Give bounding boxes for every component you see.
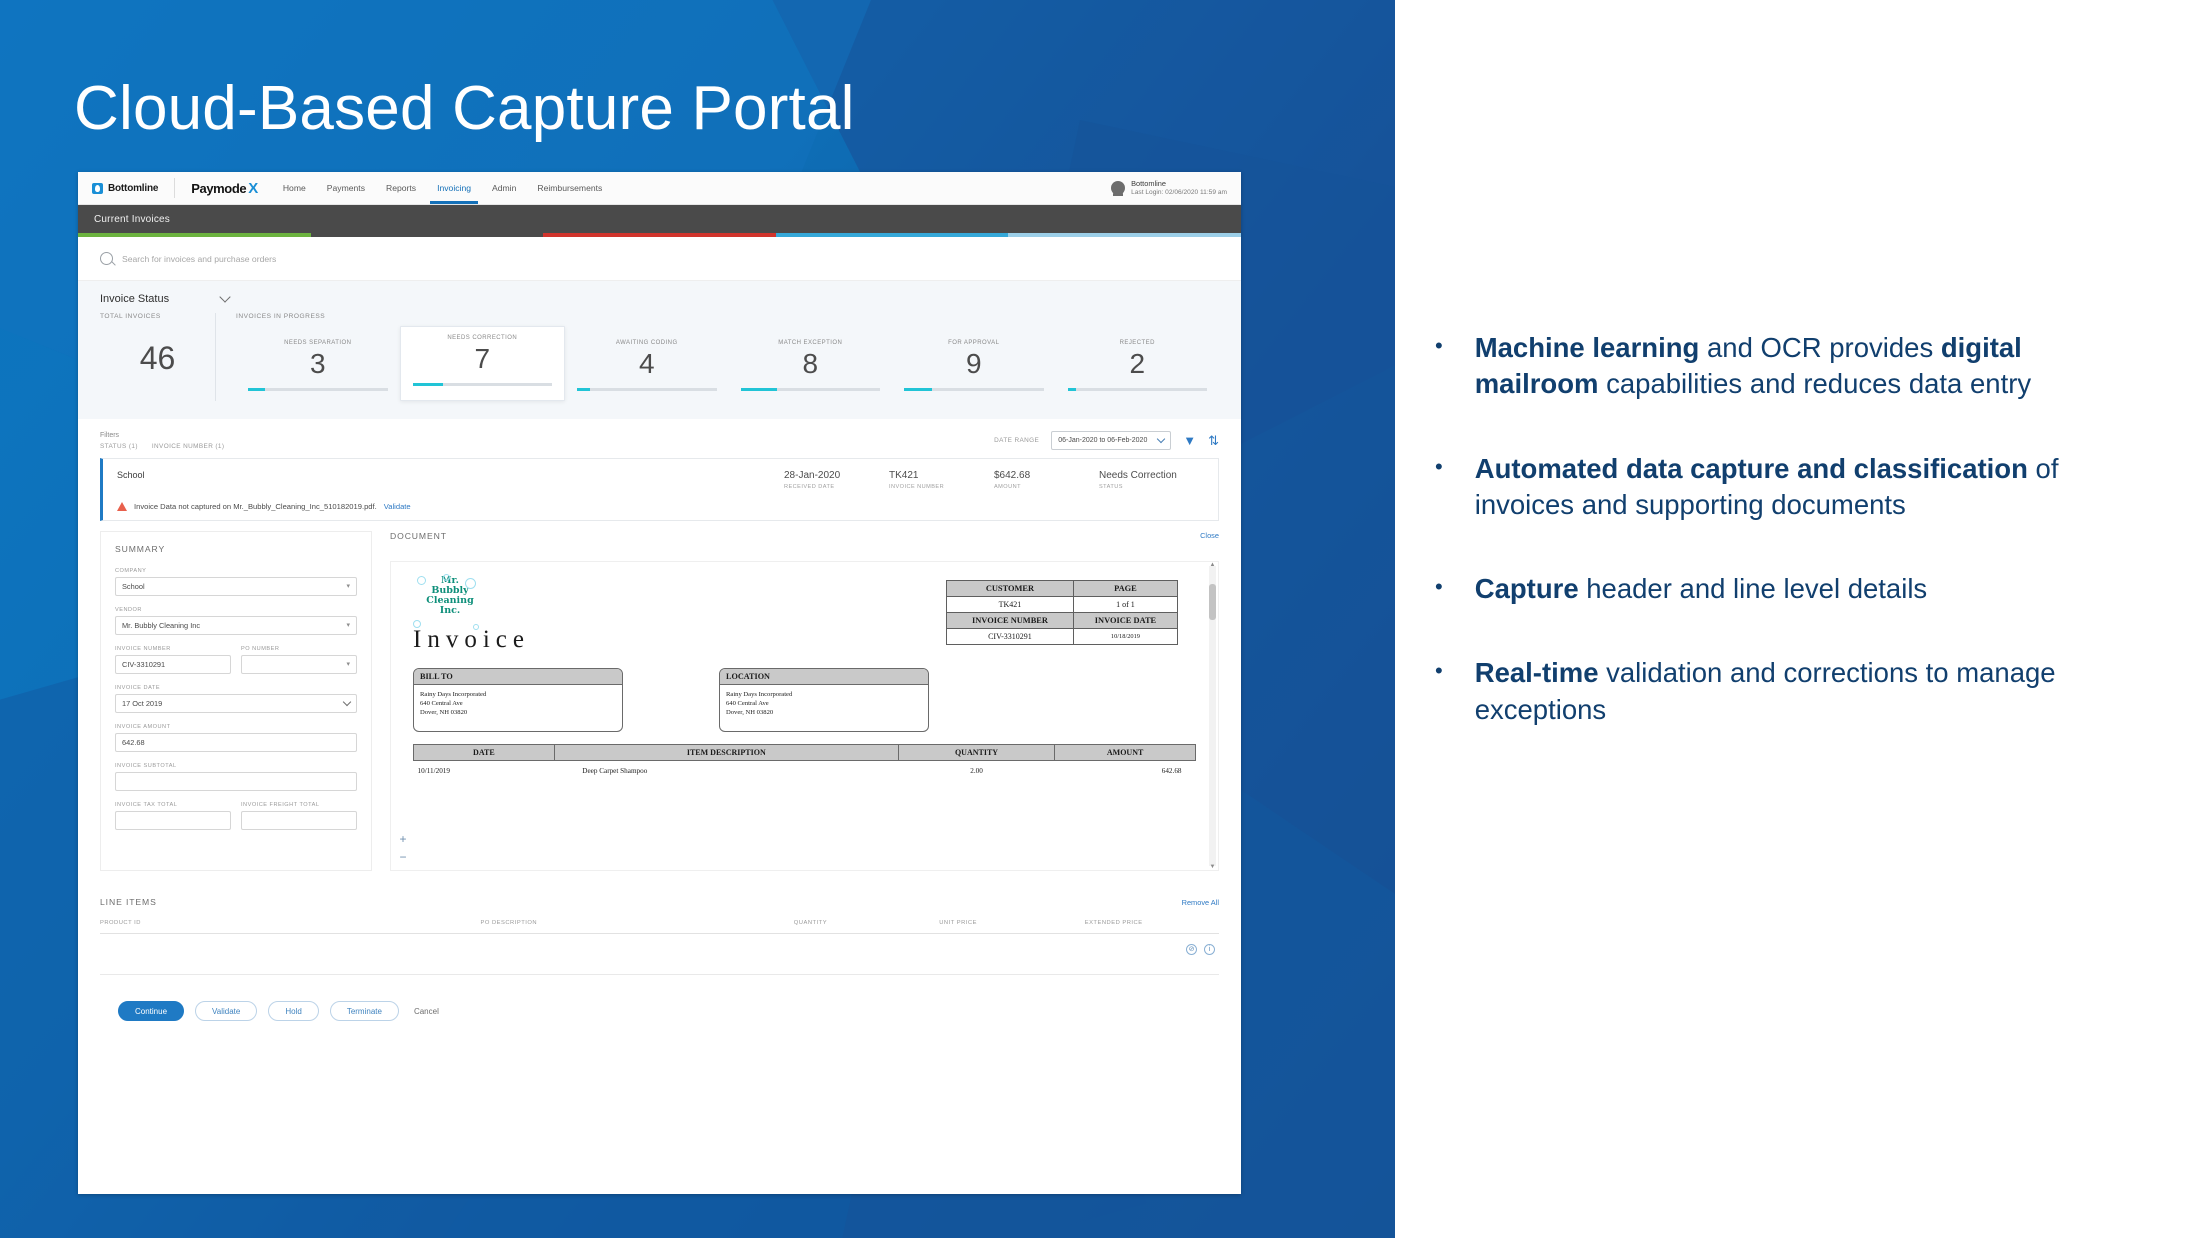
col-product-id: PRODUCT ID (100, 920, 480, 926)
date-range-select[interactable]: 06-Jan-2020 to 06-Feb-2020 (1051, 431, 1171, 450)
invoice-status: Needs Correction STATUS (1099, 470, 1204, 490)
status-card-label: FOR APPROVAL (896, 340, 1052, 346)
invoice-warning-text: Invoice Data not captured on Mr._Bubbly_… (134, 502, 377, 511)
field-invoice-number: INVOICE NUMBER CIV-3310291 (115, 646, 231, 674)
invoice-subtotal-input[interactable] (115, 772, 357, 791)
field-invoice-date: INVOICE DATE 17 Oct 2019 (115, 685, 357, 713)
date-range-value: 06-Jan-2020 to 06-Feb-2020 (1058, 437, 1147, 444)
status-card-value: 9 (896, 350, 1052, 378)
caret-icon: ▾ (346, 661, 350, 668)
cell-date: 10/11/2019 (414, 760, 555, 781)
user-account-menu[interactable]: Bottomline Last Login: 02/06/2020 11:59 … (1111, 179, 1227, 197)
search-bar[interactable]: Search for invoices and purchase orders (78, 237, 1241, 281)
status-card-needs-separation[interactable]: NEEDS SEPARATION 3 (236, 332, 400, 401)
status-card-label: NEEDS SEPARATION (240, 340, 396, 346)
nav-item-payments[interactable]: Payments (326, 174, 366, 203)
status-card-value: 7 (405, 345, 561, 373)
paymode-x-icon: X (248, 180, 258, 197)
col-date: DATE (414, 744, 555, 760)
invoice-field-value: 28-Jan-2020 (784, 470, 889, 481)
invoice-date-input[interactable]: 17 Oct 2019 (115, 694, 357, 713)
meta-customer-header: CUSTOMER (947, 581, 1074, 597)
nav-item-home[interactable]: Home (282, 174, 307, 203)
col-amount: AMOUNT (1055, 744, 1196, 760)
nav-item-invoicing[interactable]: Invoicing (436, 174, 472, 203)
cell-quantity: 2.00 (898, 760, 1054, 781)
summary-title: SUMMARY (115, 544, 357, 554)
nav-item-reimbursements[interactable]: Reimbursements (536, 174, 603, 203)
detail-work-area: SUMMARY COMPANY School ▾ VENDOR Mr. Bubb… (78, 521, 1241, 871)
invoices-in-progress-label: INVOICES IN PROGRESS (236, 313, 1219, 320)
page-title-bar: Current Invoices (78, 205, 1241, 233)
status-card-label: MATCH EXCEPTION (733, 340, 889, 346)
field-company: COMPANY School ▾ (115, 568, 357, 596)
chevron-down-icon (1157, 435, 1165, 443)
document-scrollbar[interactable]: ▲ ▼ (1209, 566, 1216, 866)
field-value: School (122, 582, 145, 591)
field-invoice-freight-total: INVOICE FREIGHT TOTAL (241, 802, 357, 830)
meta-invoice-number-value: CIV-3310291 (947, 629, 1074, 645)
invoice-field-value: Needs Correction (1099, 470, 1204, 481)
invoice-row[interactable]: School 28-Jan-2020 RECEIVED DATE TK421 I… (100, 458, 1219, 521)
field-invoice-subtotal: INVOICE SUBTOTAL (115, 763, 357, 791)
field-invoice-amount: INVOICE AMOUNT 642.68 (115, 724, 357, 752)
user-last-login: Last Login: 02/06/2020 11:59 am (1131, 189, 1227, 198)
status-card-list: NEEDS SEPARATION 3 NEEDS CORRECTION 7 AW… (236, 332, 1219, 401)
status-card-progress (1068, 388, 1208, 391)
filters-bar: Filters STATUS (1) INVOICE NUMBER (1) DA… (78, 419, 1241, 458)
status-card-progress (577, 388, 717, 391)
status-card-label: NEEDS CORRECTION (405, 335, 561, 341)
status-card-progress (904, 388, 1044, 391)
paymode-logo[interactable]: Paymode X (191, 180, 258, 197)
document-title: DOCUMENT (390, 531, 447, 541)
col-quantity: QUANTITY (794, 920, 939, 926)
meta-page-header: PAGE (1073, 581, 1177, 597)
zoom-in-icon[interactable]: + (397, 834, 409, 846)
field-label: VENDOR (115, 607, 357, 613)
meta-invoice-number-header: INVOICE NUMBER (947, 613, 1074, 629)
bullet-text-2: Automated data capture and classificatio… (1475, 451, 2135, 524)
close-document-link[interactable]: Close (1200, 531, 1219, 540)
document-zoom-controls: + − (397, 834, 409, 864)
cell-description: Deep Carpet Shampoo (554, 760, 898, 781)
status-card-progress (413, 383, 553, 386)
invoice-amount: $642.68 AMOUNT (994, 470, 1099, 490)
validate-link[interactable]: Validate (384, 502, 411, 511)
col-item-description: ITEM DESCRIPTION (554, 744, 898, 760)
invoice-tax-total-input[interactable] (115, 811, 231, 830)
chevron-down-icon (343, 698, 351, 706)
document-items-table: DATE ITEM DESCRIPTION QUANTITY AMOUNT 10… (413, 744, 1196, 781)
sort-icon[interactable]: ⇅ (1208, 434, 1219, 447)
location-line-1: Rainy Days Incorporated (726, 691, 922, 700)
bullet-item-3: • Capture header and line level details (1435, 571, 2135, 607)
status-card-for-approval[interactable]: FOR APPROVAL 9 (892, 332, 1056, 401)
bullet-dot-icon: • (1435, 571, 1443, 607)
col-unit-price: UNIT PRICE (939, 920, 1084, 926)
document-preview[interactable]: ▲ ▼ Mr. Bubbly Cleaning Inc. (390, 561, 1219, 871)
invoice-status-section: Invoice Status TOTAL INVOICES 46 INVOICE… (78, 281, 1241, 419)
field-label: INVOICE AMOUNT (115, 724, 357, 730)
accent-green (78, 233, 311, 237)
bill-to-header: BILL TO (414, 669, 622, 685)
field-invoice-tax-total: INVOICE TAX TOTAL (115, 802, 231, 830)
bill-to-line-2: 640 Central Ave (420, 700, 616, 709)
line-items-empty-row[interactable]: ⊘ i (100, 934, 1219, 974)
zoom-out-icon[interactable]: − (397, 852, 409, 864)
meta-invoice-date-header: INVOICE DATE (1073, 613, 1177, 629)
continue-button[interactable]: Continue (118, 1001, 184, 1021)
cancel-button[interactable]: Cancel (410, 1001, 443, 1021)
invoice-freight-total-input[interactable] (241, 811, 357, 830)
invoice-amount-input[interactable]: 642.68 (115, 733, 357, 752)
bullet-item-1: • Machine learning and OCR provides digi… (1435, 330, 2135, 403)
invoice-field-label: AMOUNT (994, 484, 1099, 490)
bill-to-line-1: Rainy Days Incorporated (420, 691, 616, 700)
caret-icon: ▾ (346, 583, 350, 590)
nav-item-reports[interactable]: Reports (385, 174, 417, 203)
accent-red (543, 233, 776, 237)
cell-amount: 642.68 (1055, 760, 1196, 781)
primary-nav-links: Home Payments Reports Invoicing Admin Re… (282, 174, 603, 203)
action-button-bar: Continue Validate Hold Terminate Cancel (78, 975, 1241, 1039)
bullet-item-4: • Real-time validation and corrections t… (1435, 655, 2135, 728)
invoice-field-value: TK421 (889, 470, 994, 481)
filter-chip-invoice-number[interactable]: INVOICE NUMBER (1) (152, 443, 225, 450)
filter-icon[interactable]: ▼ (1183, 434, 1196, 447)
bottomline-logo-label: Bottomline (108, 183, 158, 194)
col-extended-price: EXTENDED PRICE (1085, 920, 1219, 926)
field-label: INVOICE FREIGHT TOTAL (241, 802, 357, 808)
company-select[interactable]: School ▾ (115, 577, 357, 596)
nav-divider (174, 178, 175, 198)
bottomline-mark-icon (92, 183, 103, 194)
status-card-label: AWAITING CODING (569, 340, 725, 346)
po-number-select[interactable]: ▾ (241, 655, 357, 674)
bullet-dot-icon: • (1435, 330, 1443, 403)
total-invoices-card[interactable]: TOTAL INVOICES 46 (100, 313, 215, 401)
vendor-logo: Mr. Bubbly Cleaning Inc. (413, 576, 493, 616)
document-panel: DOCUMENT Close ▲ ▼ Mr. Bubbl (390, 531, 1219, 871)
invoice-field-label: STATUS (1099, 484, 1204, 490)
accent-color-strip (78, 233, 1241, 237)
field-value: Mr. Bubbly Cleaning Inc (122, 621, 200, 630)
scroll-down-icon[interactable]: ▼ (1209, 864, 1216, 870)
validate-button[interactable]: Validate (195, 1001, 257, 1021)
slide-title: Cloud-Based Capture Portal (74, 73, 855, 144)
document-meta-table: CUSTOMER PAGE TK421 1 of 1 INVOICE NUMBE… (946, 580, 1178, 645)
invoice-received-date: 28-Jan-2020 RECEIVED DATE (784, 470, 889, 490)
status-card-value: 2 (1060, 350, 1216, 378)
field-label: INVOICE TAX TOTAL (115, 802, 231, 808)
filters-title: Filters (100, 432, 224, 439)
invoice-number: TK421 INVOICE NUMBER (889, 470, 994, 490)
field-label: INVOICE DATE (115, 685, 357, 691)
accent-gray (311, 233, 544, 237)
field-po-number: PO NUMBER ▾ (241, 646, 357, 674)
field-value: 17 Oct 2019 (122, 699, 162, 708)
field-value: CIV-3310291 (122, 660, 165, 669)
location-header: LOCATION (720, 669, 928, 685)
bullet-text-1: Machine learning and OCR provides digita… (1475, 330, 2135, 403)
avatar-icon (1111, 181, 1125, 195)
bullet-dot-icon: • (1435, 655, 1443, 728)
invoice-field-label: INVOICE NUMBER (889, 484, 994, 490)
top-navigation-bar: Bottomline Paymode X Home Payments Repor… (78, 172, 1241, 205)
status-card-progress (741, 388, 881, 391)
status-card-label: REJECTED (1060, 340, 1216, 346)
caret-icon: ▾ (346, 622, 350, 629)
table-row: 10/11/2019 Deep Carpet Shampoo 2.00 642.… (414, 760, 1196, 781)
status-card-value: 3 (240, 350, 396, 378)
field-label: INVOICE SUBTOTAL (115, 763, 357, 769)
status-card-rejected[interactable]: REJECTED 2 (1056, 332, 1220, 401)
bullet-text-3: Capture header and line level details (1475, 571, 1927, 607)
field-label: INVOICE NUMBER (115, 646, 231, 652)
total-invoices-value: 46 (100, 340, 215, 377)
bullet-list: • Machine learning and OCR provides digi… (1435, 330, 2135, 776)
invoice-field-value: $642.68 (994, 470, 1099, 481)
location-line-2: 640 Central Ave (726, 700, 922, 709)
filter-chip-status[interactable]: STATUS (1) (100, 443, 138, 450)
search-icon (100, 252, 113, 265)
bottomline-logo[interactable]: Bottomline (92, 183, 158, 194)
status-card-value: 4 (569, 350, 725, 378)
status-card-needs-correction[interactable]: NEEDS CORRECTION 7 (400, 326, 566, 401)
bill-to-line-3: Dover, NH 03820 (420, 709, 616, 718)
invoice-number-input[interactable]: CIV-3310291 (115, 655, 231, 674)
remove-all-link[interactable]: Remove All (1182, 898, 1219, 907)
status-card-value: 8 (733, 350, 889, 378)
meta-page-value: 1 of 1 (1073, 597, 1177, 613)
location-box: LOCATION Rainy Days Incorporated 640 Cen… (719, 668, 929, 732)
bullet-text-4: Real-time validation and corrections to … (1475, 655, 2135, 728)
total-invoices-label: TOTAL INVOICES (100, 313, 215, 320)
line-items-section: LINE ITEMS Remove All PRODUCT ID PO DESC… (100, 897, 1219, 975)
bullet-item-2: • Automated data capture and classificat… (1435, 451, 2135, 524)
meta-invoice-date-value: 10/18/2019 (1073, 629, 1177, 645)
field-value: 642.68 (122, 738, 145, 747)
terminate-button[interactable]: Terminate (330, 1001, 399, 1021)
clear-row-icon[interactable]: ⊘ (1186, 944, 1197, 955)
nav-item-admin[interactable]: Admin (491, 174, 517, 203)
bill-to-box: BILL TO Rainy Days Incorporated 640 Cent… (413, 668, 623, 732)
col-quantity: QUANTITY (898, 744, 1054, 760)
location-line-3: Dover, NH 03820 (726, 709, 922, 718)
search-input-placeholder[interactable]: Search for invoices and purchase orders (122, 254, 276, 264)
status-card-progress (248, 388, 388, 391)
field-label: COMPANY (115, 568, 357, 574)
date-range-label: DATE RANGE (994, 437, 1039, 444)
invoice-company: School (117, 470, 784, 480)
accent-cyan (776, 233, 1009, 237)
status-card-match-exception[interactable]: MATCH EXCEPTION 8 (729, 332, 893, 401)
info-icon[interactable]: i (1204, 944, 1215, 955)
app-screenshot: Bottomline Paymode X Home Payments Repor… (78, 172, 1241, 1194)
chevron-down-icon[interactable] (219, 291, 230, 302)
vendor-select[interactable]: Mr. Bubbly Cleaning Inc ▾ (115, 616, 357, 635)
paymode-logo-label: Paymode (191, 181, 246, 196)
vendor-logo-line-4: Inc. (413, 606, 487, 616)
col-po-description: PO DESCRIPTION (480, 920, 793, 926)
accent-lightblue (1008, 233, 1241, 237)
page-title: Current Invoices (94, 214, 170, 225)
field-label: PO NUMBER (241, 646, 357, 652)
hold-button[interactable]: Hold (268, 1001, 318, 1021)
scroll-up-icon[interactable]: ▲ (1209, 562, 1216, 568)
summary-panel: SUMMARY COMPANY School ▾ VENDOR Mr. Bubb… (100, 531, 372, 871)
field-vendor: VENDOR Mr. Bubbly Cleaning Inc ▾ (115, 607, 357, 635)
line-items-header-row: PRODUCT ID PO DESCRIPTION QUANTITY UNIT … (100, 920, 1219, 934)
invoice-warning: Invoice Data not captured on Mr._Bubbly_… (117, 502, 1204, 511)
status-card-awaiting-coding[interactable]: AWAITING CODING 4 (565, 332, 729, 401)
bullet-dot-icon: • (1435, 451, 1443, 524)
meta-customer-value: TK421 (947, 597, 1074, 613)
table-header-row: DATE ITEM DESCRIPTION QUANTITY AMOUNT (414, 744, 1196, 760)
invoice-field-label: RECEIVED DATE (784, 484, 889, 490)
invoice-status-heading: Invoice Status (100, 293, 169, 305)
user-name: Bottomline (1131, 179, 1227, 189)
warning-triangle-icon (117, 502, 127, 511)
line-items-title: LINE ITEMS (100, 897, 157, 907)
